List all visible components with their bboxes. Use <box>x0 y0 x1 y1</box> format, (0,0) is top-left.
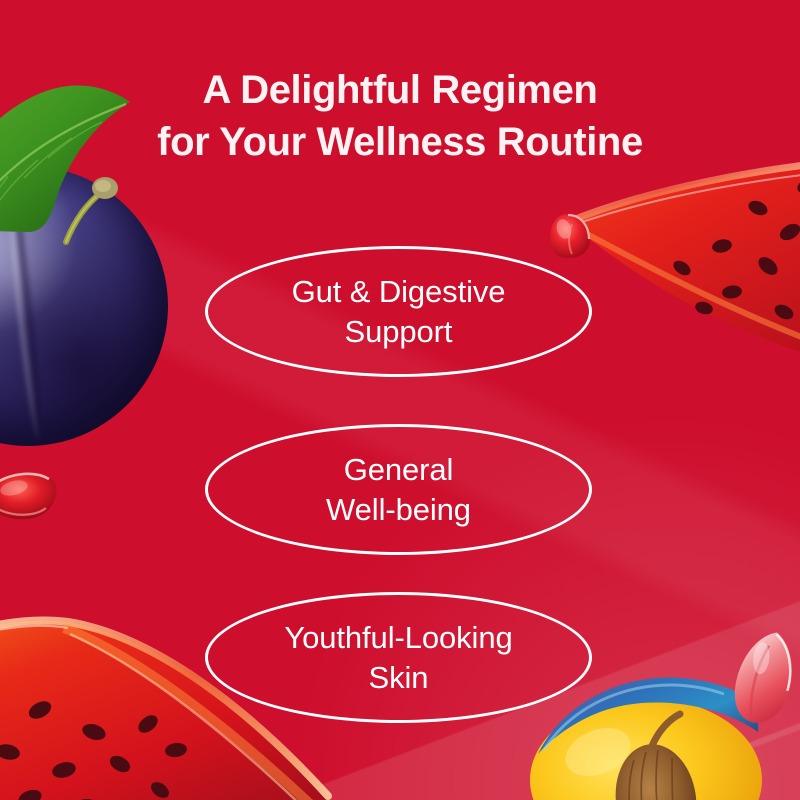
benefit-badge-gut-digestive-support[interactable]: Gut & Digestive Support <box>205 246 592 377</box>
benefit-badge-label: Gut & Digestive Support <box>270 272 528 352</box>
benefit-badge-general-well-being[interactable]: General Well-being <box>205 424 592 555</box>
benefit-badge-youthful-looking-skin[interactable]: Youthful-Looking Skin <box>205 592 592 723</box>
benefit-badge-label: General Well-being <box>304 450 493 530</box>
page-title: A Delightful Regimen for Your Wellness R… <box>0 64 800 168</box>
promotional-poster: A Delightful Regimen for Your Wellness R… <box>0 0 800 800</box>
benefit-badge-label: Youthful-Looking Skin <box>262 618 534 698</box>
